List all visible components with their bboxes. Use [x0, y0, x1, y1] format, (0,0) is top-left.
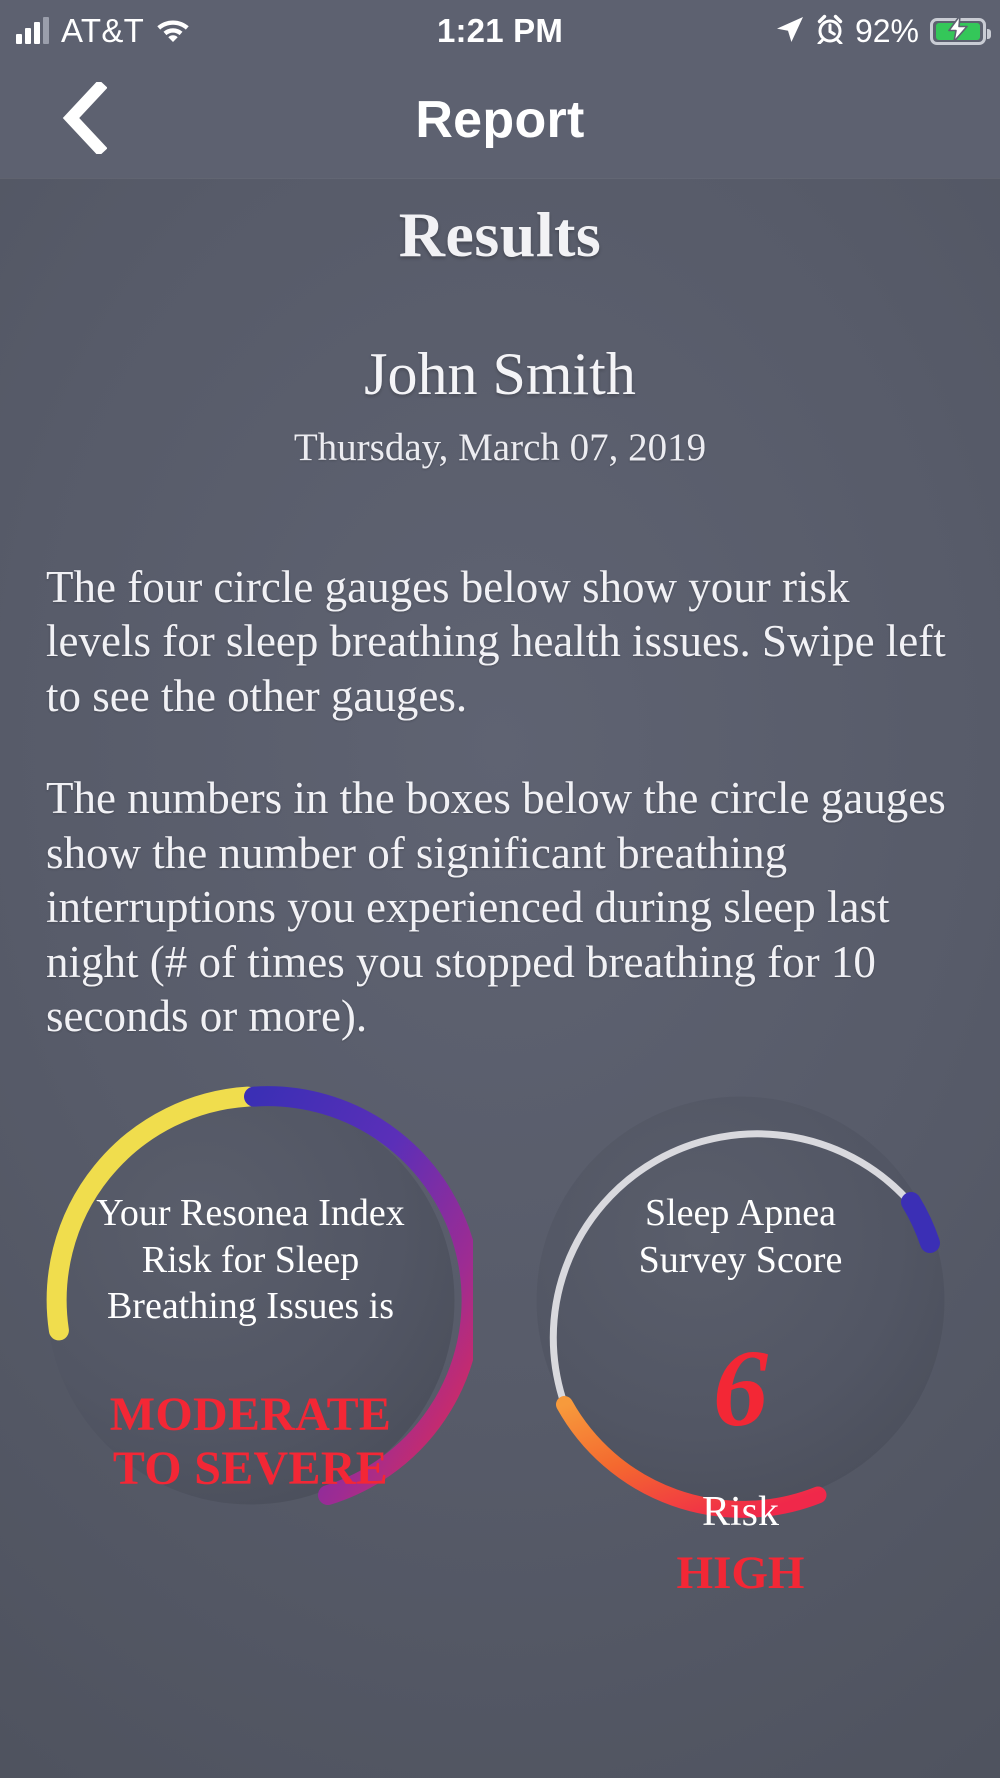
page-title: Report [0, 62, 1000, 178]
gauge-2-title: Sleep Apnea Survey Score [518, 1190, 963, 1283]
gauge-2-risk-value: HIGH [518, 1546, 963, 1600]
battery-charging-icon [930, 18, 986, 45]
battery-percent-label: 92% [855, 13, 919, 50]
status-bar-right: 92% [775, 0, 986, 62]
patient-name: John Smith [0, 340, 1000, 409]
gauge-1-title-line-3: Breathing Issues is [28, 1283, 473, 1330]
gauge-2-score: 6 [518, 1333, 963, 1443]
report-date: Thursday, March 07, 2019 [0, 425, 1000, 470]
resonea-index-gauge[interactable]: Your Resonea Index Risk for Sleep Breath… [28, 1078, 473, 1778]
gauge-2-title-line-2: Survey Score [518, 1237, 963, 1284]
gauge-2-title-line-1: Sleep Apnea [518, 1190, 963, 1237]
clock-label: 1:21 PM [437, 12, 563, 50]
intro-paragraph-2: The numbers in the boxes below the circl… [46, 771, 954, 1043]
gauge-1-verdict: MODERATE TO SEVERE [28, 1388, 473, 1496]
gauge-1-verdict-line-1: MODERATE [28, 1388, 473, 1442]
phone-screen: AT&T 1:21 PM [0, 0, 1000, 1778]
gauge-carousel[interactable]: Your Resonea Index Risk for Sleep Breath… [0, 1078, 1000, 1778]
gauge-1-title-line-2: Risk for Sleep [28, 1237, 473, 1284]
navigation-bar: Report [0, 62, 1000, 178]
status-bar: AT&T 1:21 PM [0, 0, 1000, 62]
gauge-1-title-line-1: Your Resonea Index [28, 1190, 473, 1237]
sleep-apnea-survey-gauge[interactable]: Sleep Apnea Survey Score 6 Risk HIGH [518, 1078, 963, 1778]
gauge-2-risk-label: Risk [518, 1488, 963, 1536]
gauge-1-title: Your Resonea Index Risk for Sleep Breath… [28, 1190, 473, 1330]
report-content: Results John Smith Thursday, March 07, 2… [0, 178, 1000, 1044]
gauge-2-dial [518, 1078, 963, 1523]
gauge-1-verdict-line-2: TO SEVERE [28, 1442, 473, 1496]
intro-paragraph-1: The four circle gauges below show your r… [46, 560, 954, 723]
location-arrow-icon [775, 14, 805, 49]
results-heading: Results [0, 198, 1000, 272]
alarm-clock-icon [816, 14, 844, 49]
